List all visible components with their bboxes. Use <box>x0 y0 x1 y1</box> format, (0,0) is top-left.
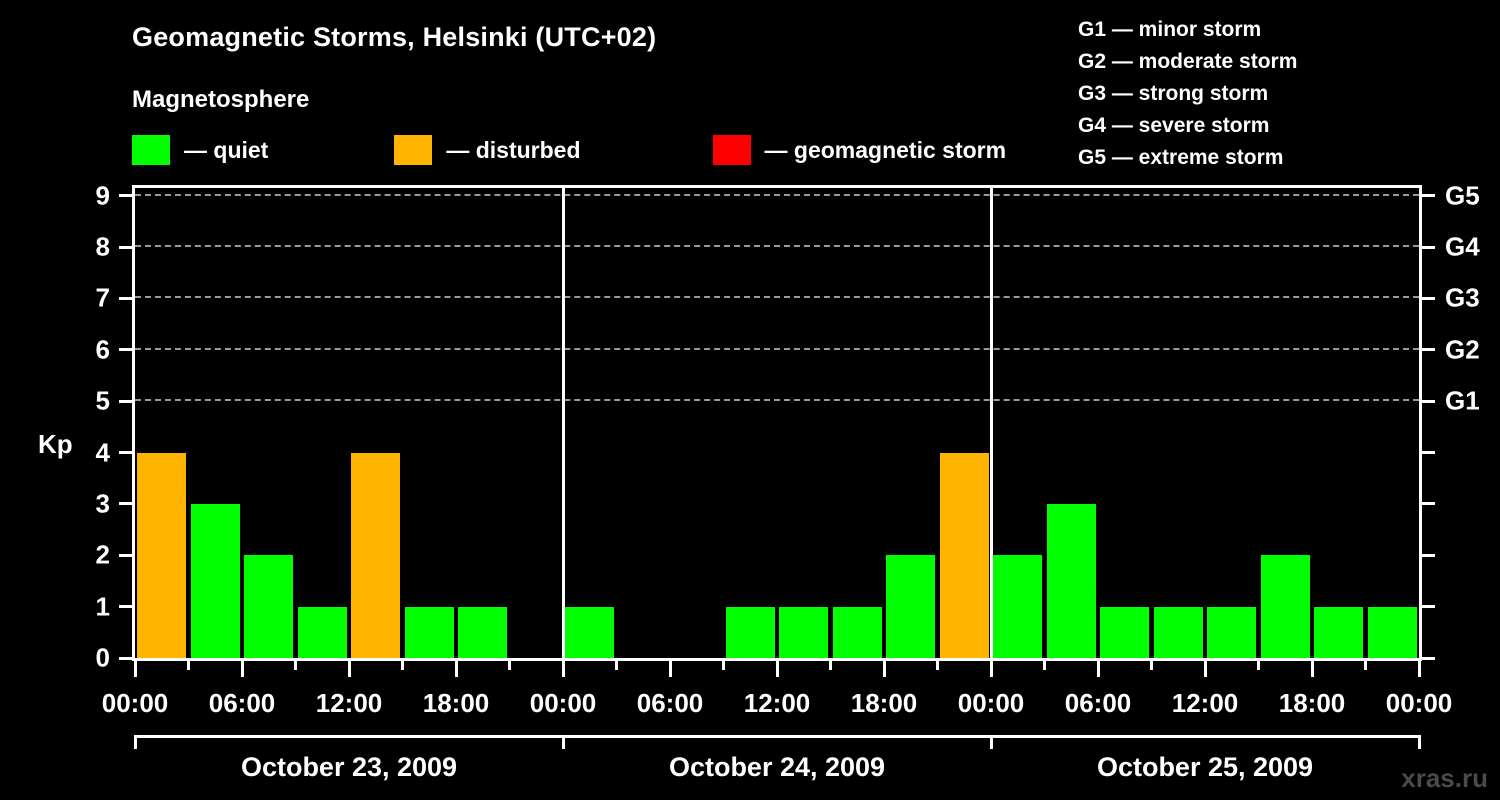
y-tick-right-9 <box>1422 194 1435 197</box>
bar <box>779 607 828 658</box>
day-label: October 23, 2009 <box>241 752 457 783</box>
bar <box>1368 607 1417 658</box>
bar <box>1207 607 1256 658</box>
legend-label-disturbed: — disturbed <box>446 137 580 164</box>
page-title: Geomagnetic Storms, Helsinki (UTC+02) <box>132 22 656 53</box>
day-label: October 25, 2009 <box>1097 752 1313 783</box>
x-tick <box>1043 661 1046 670</box>
y-tick-right-0 <box>1422 657 1435 660</box>
x-tick <box>1204 661 1207 677</box>
legend-item-disturbed: — disturbed <box>394 135 580 165</box>
y-tick-right-1 <box>1422 605 1435 608</box>
y-tick-label-8: 8 <box>96 232 110 263</box>
y-tick-label-7: 7 <box>96 283 110 314</box>
legend-label-geomagnetic-storm: — geomagnetic storm <box>765 137 1007 164</box>
bar <box>726 607 775 658</box>
y-tick-right-2 <box>1422 554 1435 557</box>
y-tick-label-4: 4 <box>96 437 110 468</box>
bar <box>993 555 1042 658</box>
x-axis-label: 06:00 <box>1065 688 1132 719</box>
x-tick <box>241 661 244 677</box>
bar <box>886 555 935 658</box>
y-tick-label-2: 2 <box>96 540 110 571</box>
x-tick <box>187 661 190 670</box>
x-axis-label: 06:00 <box>637 688 704 719</box>
x-tick <box>401 661 404 670</box>
gridline-kp-8 <box>135 245 1419 247</box>
y-tick-2 <box>119 554 132 557</box>
g-axis-label-G1: G1 <box>1445 386 1480 417</box>
day-bracket-tick <box>134 735 137 749</box>
legend-swatch-quiet <box>132 135 170 165</box>
legend-swatch-disturbed <box>394 135 432 165</box>
x-axis-label: 00:00 <box>102 688 169 719</box>
x-axis-label: 00:00 <box>1386 688 1453 719</box>
day-bracket-line <box>563 735 991 738</box>
x-axis-label: 12:00 <box>316 688 383 719</box>
y-axis-title: Kp <box>38 429 73 460</box>
x-axis-label: 18:00 <box>423 688 490 719</box>
chart-root: Geomagnetic Storms, Helsinki (UTC+02) Ma… <box>0 0 1500 800</box>
day-bracket <box>132 735 1422 749</box>
day-bracket-tick <box>1418 735 1421 749</box>
y-tick-label-9: 9 <box>96 180 110 211</box>
color-legend: — quiet— disturbed— geomagnetic storm <box>132 133 1006 167</box>
x-tick <box>1311 661 1314 677</box>
x-axis-label: 00:00 <box>530 688 597 719</box>
g-legend-row-2: G2 — moderate storm <box>1078 46 1297 78</box>
x-axis-label: 12:00 <box>744 688 811 719</box>
x-axis-label: 18:00 <box>1279 688 1346 719</box>
x-tick <box>294 661 297 670</box>
y-tick-label-6: 6 <box>96 334 110 365</box>
x-tick <box>1418 661 1421 677</box>
legend-item-geomagnetic-storm: — geomagnetic storm <box>713 135 1007 165</box>
x-tick <box>1097 661 1100 677</box>
g-scale-legend: G1 — minor stormG2 — moderate stormG3 — … <box>1078 14 1297 174</box>
day-bracket-tick <box>990 735 993 749</box>
x-tick <box>1150 661 1153 670</box>
x-tick <box>936 661 939 670</box>
x-tick <box>883 661 886 677</box>
bar <box>565 607 614 658</box>
gridline-kp-9 <box>135 194 1419 196</box>
x-tick <box>1364 661 1367 670</box>
bar <box>137 453 186 658</box>
x-tick <box>348 661 351 677</box>
day-separator <box>562 188 565 658</box>
y-tick-right-8 <box>1422 246 1435 249</box>
y-tick-right-4 <box>1422 451 1435 454</box>
g-legend-row-4: G4 — severe storm <box>1078 110 1297 142</box>
x-tick <box>562 661 565 677</box>
g-legend-row-1: G1 — minor storm <box>1078 14 1297 46</box>
bar <box>351 453 400 658</box>
x-axis-label: 06:00 <box>209 688 276 719</box>
g-axis-label-G4: G4 <box>1445 232 1480 263</box>
bar <box>1100 607 1149 658</box>
legend-item-quiet: — quiet <box>132 135 268 165</box>
x-tick <box>722 661 725 670</box>
day-bracket-line <box>135 735 563 738</box>
y-tick-right-5 <box>1422 400 1435 403</box>
day-label: October 24, 2009 <box>669 752 885 783</box>
y-tick-label-3: 3 <box>96 488 110 519</box>
plot-area <box>132 185 1422 661</box>
x-axis-label: 12:00 <box>1172 688 1239 719</box>
x-tick <box>508 661 511 670</box>
bar <box>298 607 347 658</box>
day-bracket-line <box>991 735 1419 738</box>
x-tick <box>134 661 137 677</box>
bar <box>1261 555 1310 658</box>
y-tick-3 <box>119 502 132 505</box>
g-axis-label-G2: G2 <box>1445 334 1480 365</box>
gridline-kp-6 <box>135 348 1419 350</box>
y-tick-8 <box>119 246 132 249</box>
x-axis-label: 00:00 <box>958 688 1025 719</box>
x-tick <box>829 661 832 670</box>
y-tick-7 <box>119 297 132 300</box>
bar <box>191 504 240 658</box>
g-legend-row-3: G3 — strong storm <box>1078 78 1297 110</box>
bar <box>1314 607 1363 658</box>
y-tick-label-0: 0 <box>96 643 110 674</box>
y-tick-right-3 <box>1422 502 1435 505</box>
y-tick-9 <box>119 194 132 197</box>
x-tick <box>776 661 779 677</box>
x-tick <box>1257 661 1260 670</box>
day-bracket-tick <box>562 735 565 749</box>
y-tick-6 <box>119 348 132 351</box>
y-tick-1 <box>119 605 132 608</box>
bar <box>405 607 454 658</box>
y-tick-4 <box>119 451 132 454</box>
bar <box>940 453 989 658</box>
y-tick-right-6 <box>1422 348 1435 351</box>
legend-label-quiet: — quiet <box>184 137 268 164</box>
magnetosphere-label: Magnetosphere <box>132 86 309 114</box>
y-tick-right-7 <box>1422 297 1435 300</box>
g-axis-label-G3: G3 <box>1445 283 1480 314</box>
x-axis-label: 18:00 <box>851 688 918 719</box>
y-tick-label-5: 5 <box>96 386 110 417</box>
watermark: xras.ru <box>1401 763 1488 794</box>
y-tick-5 <box>119 400 132 403</box>
day-separator <box>990 188 993 658</box>
bar <box>833 607 882 658</box>
bar <box>458 607 507 658</box>
y-tick-label-1: 1 <box>96 591 110 622</box>
g-axis-label-G5: G5 <box>1445 180 1480 211</box>
g-legend-row-5: G5 — extreme storm <box>1078 142 1297 174</box>
x-tick <box>615 661 618 670</box>
gridline-kp-5 <box>135 399 1419 401</box>
gridline-kp-7 <box>135 296 1419 298</box>
plot-inner <box>135 188 1419 658</box>
bar <box>1154 607 1203 658</box>
legend-swatch-geomagnetic-storm <box>713 135 751 165</box>
bar <box>1047 504 1096 658</box>
bar <box>244 555 293 658</box>
x-tick <box>990 661 993 677</box>
y-tick-0 <box>119 657 132 660</box>
x-tick <box>455 661 458 677</box>
x-tick <box>669 661 672 677</box>
